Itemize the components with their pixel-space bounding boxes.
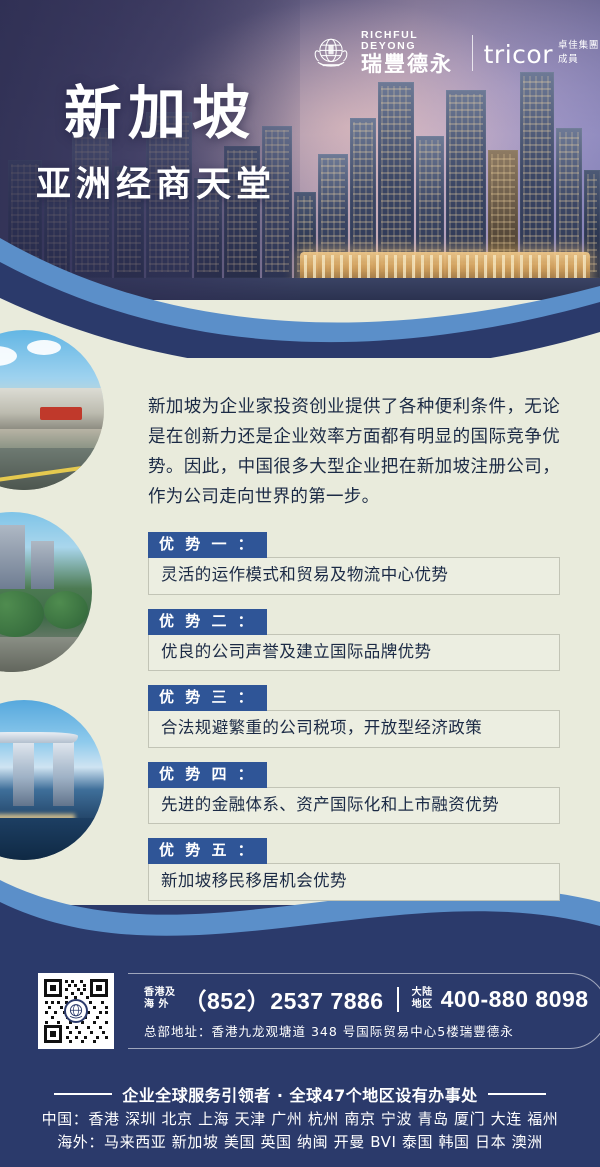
advantage-item-5: 优 势 五 ： 新加坡移民移居机会优势 xyxy=(148,838,560,901)
advantage-item-4: 优 势 四 ： 先进的金融体系、资产国际化和上市融资优势 xyxy=(148,762,560,825)
hk-phone-number[interactable]: （852）2537 7886 xyxy=(184,982,384,1016)
logo-cn-name: 瑞豐德永 xyxy=(361,54,461,75)
contact-row: 香港及 海 外 （852）2537 7886 大陆 地区 400-880 809… xyxy=(38,973,600,1049)
content-column: 新加坡为企业家投资创业提供了各种便利条件，无论是在创新力还是企业效率方面都有明显… xyxy=(148,392,560,915)
hk-overseas-label: 香港及 海 外 xyxy=(144,987,176,1011)
advantage-badge-3: 优 势 三 ： xyxy=(148,685,267,711)
logo-divider xyxy=(472,35,473,71)
advantage-item-3: 优 势 三 ： 合法规避繁重的公司税项，开放型经济政策 xyxy=(148,685,560,748)
advantage-text-4: 先进的金融体系、资产国际化和上市融资优势 xyxy=(148,787,560,825)
advantages-list: 优 势 一 ： 灵活的运作模式和贸易及物流中心优势 优 势 二 ： 优良的公司声… xyxy=(148,532,560,901)
hk-label-line1: 香港及 xyxy=(144,987,176,998)
advantage-text-1: 灵活的运作模式和贸易及物流中心优势 xyxy=(148,557,560,595)
advantage-badge-5: 优 势 五 ： xyxy=(148,838,267,864)
mainland-phone-number[interactable]: 400-880 8098 xyxy=(441,986,589,1013)
mainland-label-line2: 地区 xyxy=(412,999,433,1010)
advantage-badge-4: 优 势 四 ： xyxy=(148,762,267,788)
page-title: 新加坡 xyxy=(64,84,256,142)
photo-circle-marina-bay xyxy=(0,700,104,860)
page-subtitle: 亚洲经商天堂 xyxy=(36,168,276,203)
partner-cn-label: 卓佳集團成員 xyxy=(558,37,600,69)
mainland-label: 大陆 地区 xyxy=(412,987,433,1011)
brand-logo-lockup[interactable]: RICHFUL DEYONG 瑞豐德永 tricor 卓佳集團成員 xyxy=(310,30,600,75)
advantage-badge-1: 优 势 一 ： xyxy=(148,532,267,558)
logo-en-name: RICHFUL DEYONG xyxy=(361,30,461,51)
intro-paragraph: 新加坡为企业家投资创业提供了各种便利条件，无论是在创新力还是企业效率方面都有明显… xyxy=(148,392,560,512)
tagline-row: 企业全球服务引领者 · 全球47个地区设有办事处 xyxy=(0,1082,600,1106)
tagline-rule-right xyxy=(488,1093,546,1095)
poster-root: 新加坡 亚洲经商天堂 RICHFUL DEYONG 瑞豐德 xyxy=(0,0,600,1167)
partner-logo-tricor: tricor xyxy=(484,40,553,69)
regions-china: 中国：香港 深圳 北京 上海 天津 广州 杭州 南京 宁波 青岛 厦门 大连 福… xyxy=(0,1108,600,1131)
advantage-badge-2: 优 势 二 ： xyxy=(148,609,267,635)
phone-divider xyxy=(397,987,399,1012)
advantage-text-5: 新加坡移民移居机会优势 xyxy=(148,863,560,901)
qr-center-crest-icon xyxy=(64,999,88,1023)
advantage-item-1: 优 势 一 ： 灵活的运作模式和贸易及物流中心优势 xyxy=(148,532,560,595)
headquarters-address: 总部地址：香港九龙观塘道 348 号国际贸易中心5楼瑞豐德永 xyxy=(144,1021,589,1040)
tagline-rule-left xyxy=(54,1093,112,1095)
photo-circle-shophouse xyxy=(0,330,104,490)
photo-circle-city-park xyxy=(0,512,92,672)
advantage-text-3: 合法规避繁重的公司税项，开放型经济政策 xyxy=(148,710,560,748)
qr-code-icon[interactable] xyxy=(38,973,114,1049)
advantage-item-2: 优 势 二 ： 优良的公司声誉及建立国际品牌优势 xyxy=(148,609,560,672)
wreath-crest-icon xyxy=(310,32,352,74)
regions-overseas: 海外：马来西亚 新加坡 美国 英国 纳闽 开曼 BVI 泰国 韩国 日本 澳洲 xyxy=(0,1131,600,1154)
contact-details-box: 香港及 海 外 （852）2537 7886 大陆 地区 400-880 809… xyxy=(128,973,600,1049)
mainland-label-line1: 大陆 xyxy=(412,987,433,998)
advantage-text-2: 优良的公司声誉及建立国际品牌优势 xyxy=(148,634,560,672)
regions-block: 中国：香港 深圳 北京 上海 天津 广州 杭州 南京 宁波 青岛 厦门 大连 福… xyxy=(0,1108,600,1155)
hk-label-line2: 海 外 xyxy=(144,999,169,1010)
tagline-text: 企业全球服务引领者 · 全球47个地区设有办事处 xyxy=(122,1082,478,1106)
phone-line: 香港及 海 外 （852）2537 7886 大陆 地区 400-880 809… xyxy=(144,982,589,1016)
